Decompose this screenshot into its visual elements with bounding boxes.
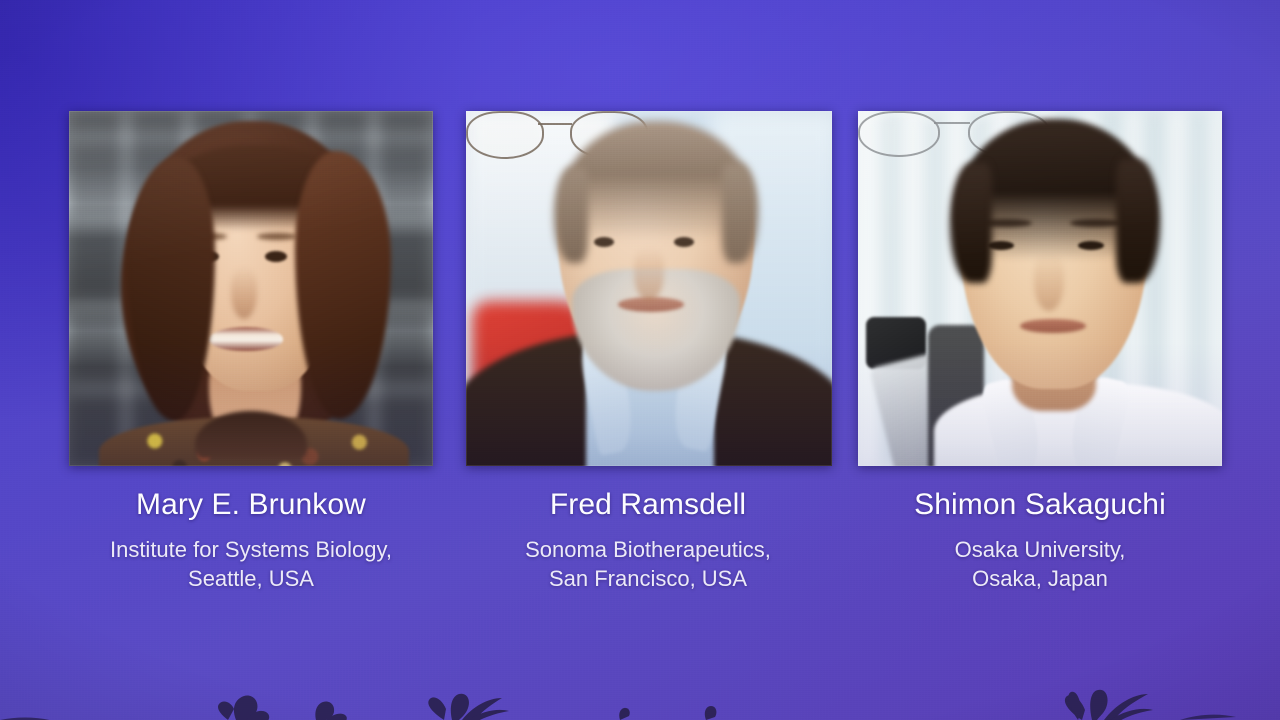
portrait-image xyxy=(69,111,433,466)
eye-right-shape xyxy=(265,251,287,262)
lens-left xyxy=(858,111,940,157)
hair-right-shape xyxy=(1116,159,1160,283)
mouth-shape xyxy=(1020,319,1086,333)
glasses-bridge xyxy=(538,123,572,125)
hair-right-shape xyxy=(722,163,758,263)
laureate-affiliation: Osaka University, Osaka, Japan xyxy=(858,535,1222,593)
laureate-affiliation: Institute for Systems Biology, Seattle, … xyxy=(69,535,433,593)
laureate-card-1: Mary E. Brunkow Institute for Systems Bi… xyxy=(69,111,433,593)
portrait-image xyxy=(466,111,832,466)
hair-left-shape xyxy=(554,167,588,263)
affiliation-line: Osaka, Japan xyxy=(858,564,1222,593)
presentation-slide: Mary E. Brunkow Institute for Systems Bi… xyxy=(0,0,1280,720)
laureate-photo-2 xyxy=(466,111,832,466)
laureate-card-3: Shimon Sakaguchi Osaka University, Osaka… xyxy=(858,111,1222,593)
laureate-name: Mary E. Brunkow xyxy=(69,488,433,521)
glasses-bridge xyxy=(934,122,970,124)
affiliation-line: Institute for Systems Biology, xyxy=(69,535,433,564)
laureate-name: Fred Ramsdell xyxy=(466,488,830,521)
portrait-image xyxy=(858,111,1222,466)
affiliation-line: San Francisco, USA xyxy=(466,564,830,593)
lens-left xyxy=(466,111,544,159)
laureate-photo-3 xyxy=(858,111,1222,466)
laureate-name: Shimon Sakaguchi xyxy=(858,488,1222,521)
nose-shape xyxy=(1034,253,1064,311)
affiliation-line: Osaka University, xyxy=(858,535,1222,564)
hair-left-shape xyxy=(950,163,992,283)
laureate-row: Mary E. Brunkow Institute for Systems Bi… xyxy=(0,0,1280,720)
laureate-affiliation: Sonoma Biotherapeutics, San Francisco, U… xyxy=(466,535,830,593)
laureate-photo-1 xyxy=(69,111,433,466)
affiliation-line: Sonoma Biotherapeutics, xyxy=(466,535,830,564)
eyebrow-right-shape xyxy=(257,233,297,240)
laureate-card-2: Fred Ramsdell Sonoma Biotherapeutics, Sa… xyxy=(466,111,830,593)
nose-shape xyxy=(634,247,664,301)
nose-shape xyxy=(231,267,257,319)
mouth-shape xyxy=(209,327,283,351)
affiliation-line: Seattle, USA xyxy=(69,564,433,593)
